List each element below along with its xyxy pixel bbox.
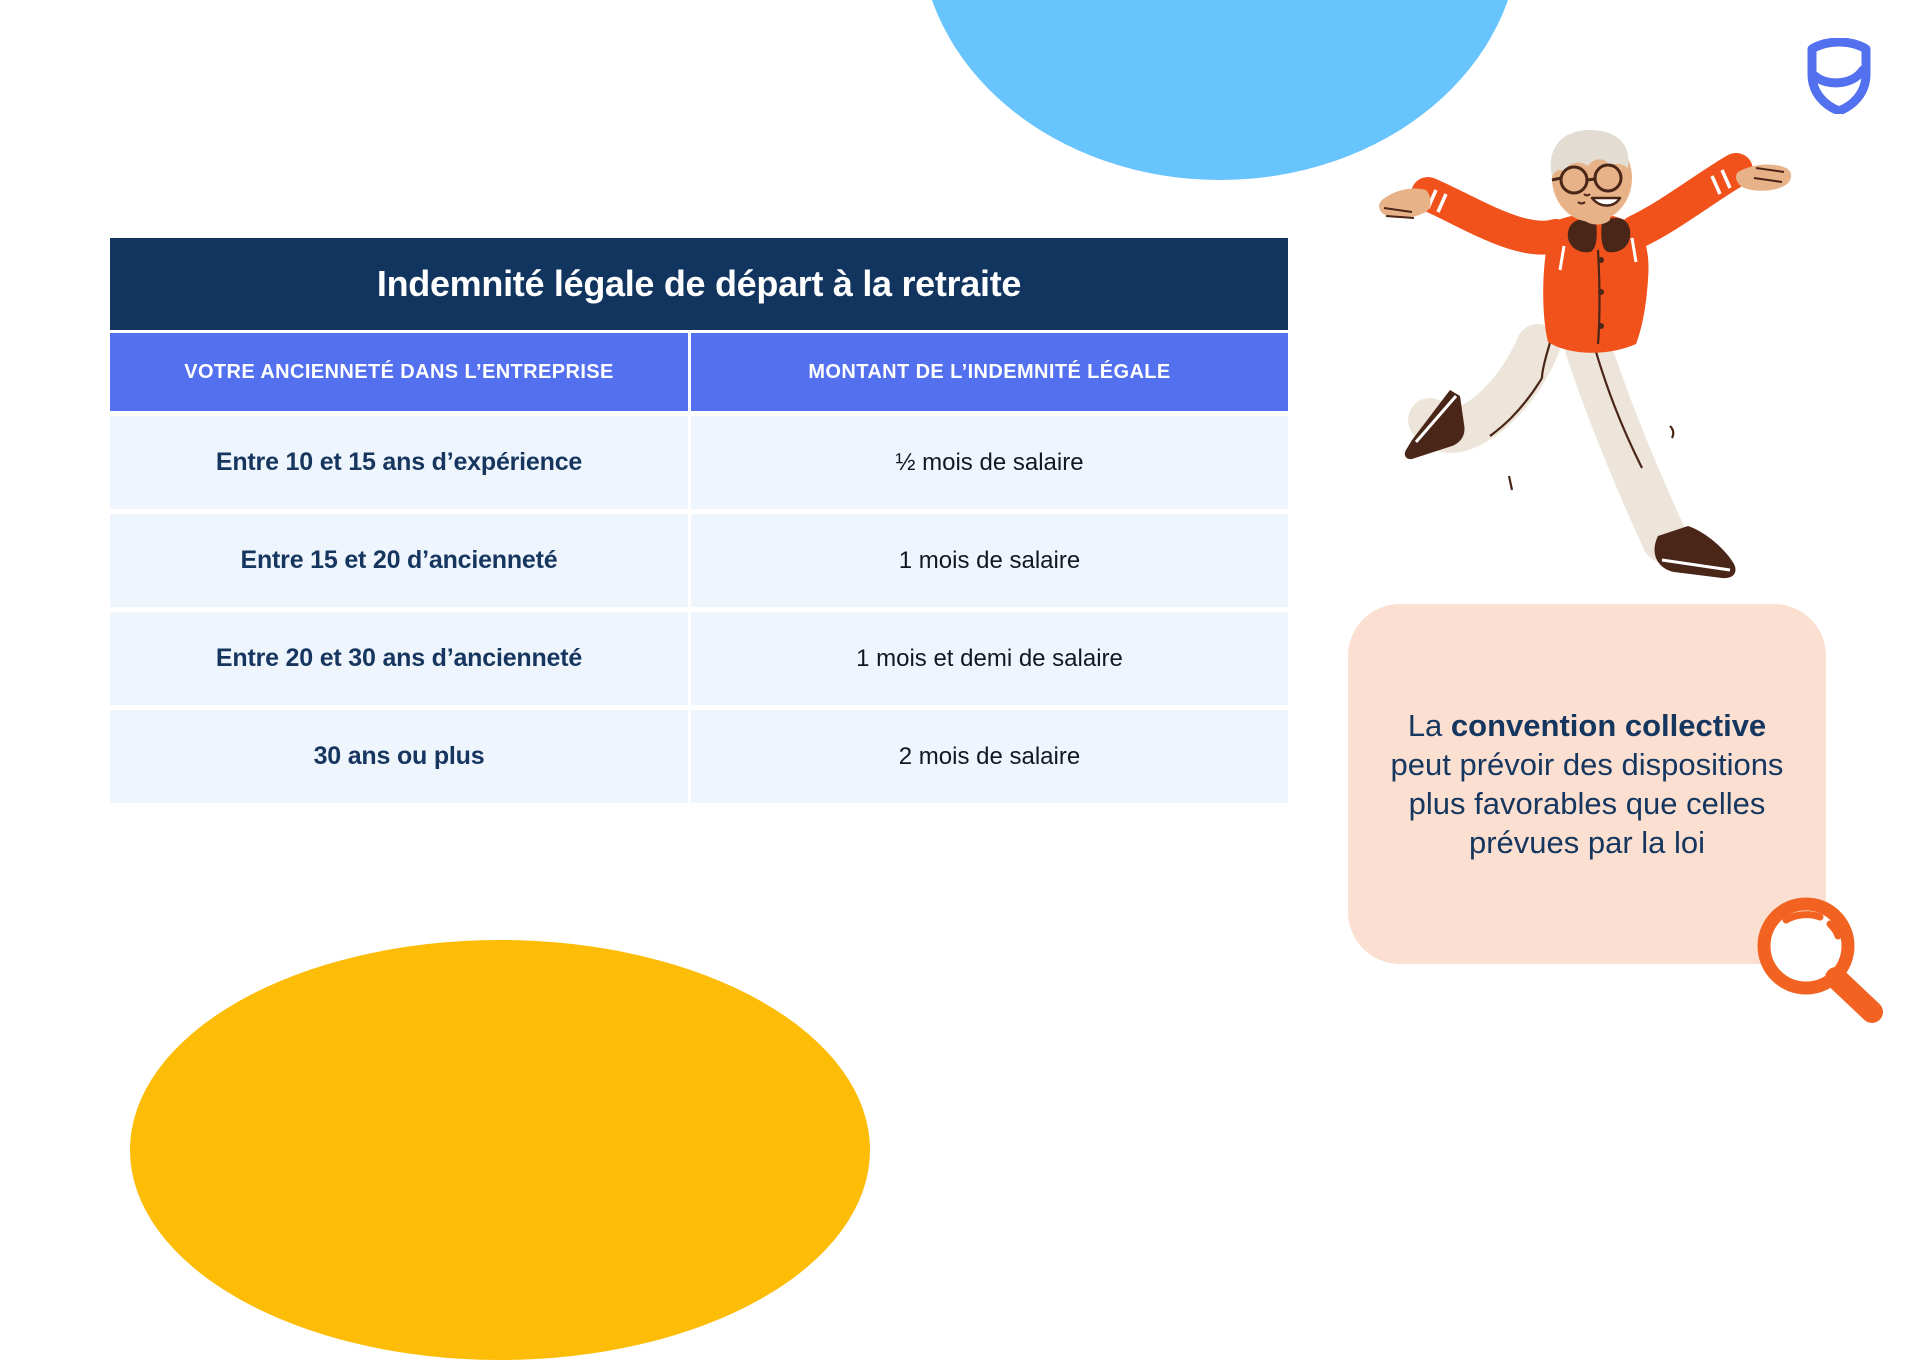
cell-seniority: 30 ans ou plus bbox=[110, 710, 688, 803]
cell-seniority: Entre 20 et 30 ans d’ancienneté bbox=[110, 612, 688, 705]
table-title: Indemnité légale de départ à la retraite bbox=[110, 238, 1288, 330]
cell-amount: 1 mois et demi de salaire bbox=[691, 612, 1288, 705]
table-row: Entre 15 et 20 d’ancienneté 1 mois de sa… bbox=[110, 514, 1288, 607]
callout-rest: peut prévoir des dispositions plus favor… bbox=[1391, 747, 1784, 860]
callout-highlight: convention collective bbox=[1451, 708, 1766, 743]
column-header-seniority: VOTRE ANCIENNETÉ DANS L’ENTREPRISE bbox=[110, 333, 688, 411]
jumping-senior-man-illustration bbox=[1370, 128, 1810, 608]
cell-amount: ½ mois de salaire bbox=[691, 416, 1288, 509]
table-header-row: VOTRE ANCIENNETÉ DANS L’ENTREPRISE MONTA… bbox=[110, 333, 1288, 411]
cell-seniority: Entre 10 et 15 ans d’expérience bbox=[110, 416, 688, 509]
legal-severance-table: Indemnité légale de départ à la retraite… bbox=[110, 238, 1288, 803]
decorative-yellow-ellipse bbox=[130, 940, 870, 1360]
table-row: Entre 10 et 15 ans d’expérience ½ mois d… bbox=[110, 416, 1288, 509]
table-row: Entre 20 et 30 ans d’ancienneté 1 mois e… bbox=[110, 612, 1288, 705]
table-row: 30 ans ou plus 2 mois de salaire bbox=[110, 710, 1288, 803]
cell-amount: 1 mois de salaire bbox=[691, 514, 1288, 607]
column-header-amount: MONTANT DE L’INDEMNITÉ LÉGALE bbox=[691, 333, 1288, 411]
cell-amount: 2 mois de salaire bbox=[691, 710, 1288, 803]
callout-text: La convention collective peut prévoir de… bbox=[1348, 706, 1826, 862]
shield-logo bbox=[1806, 38, 1872, 114]
magnifier-icon bbox=[1748, 890, 1898, 1040]
cell-seniority: Entre 15 et 20 d’ancienneté bbox=[110, 514, 688, 607]
callout-lead: La bbox=[1408, 708, 1451, 743]
